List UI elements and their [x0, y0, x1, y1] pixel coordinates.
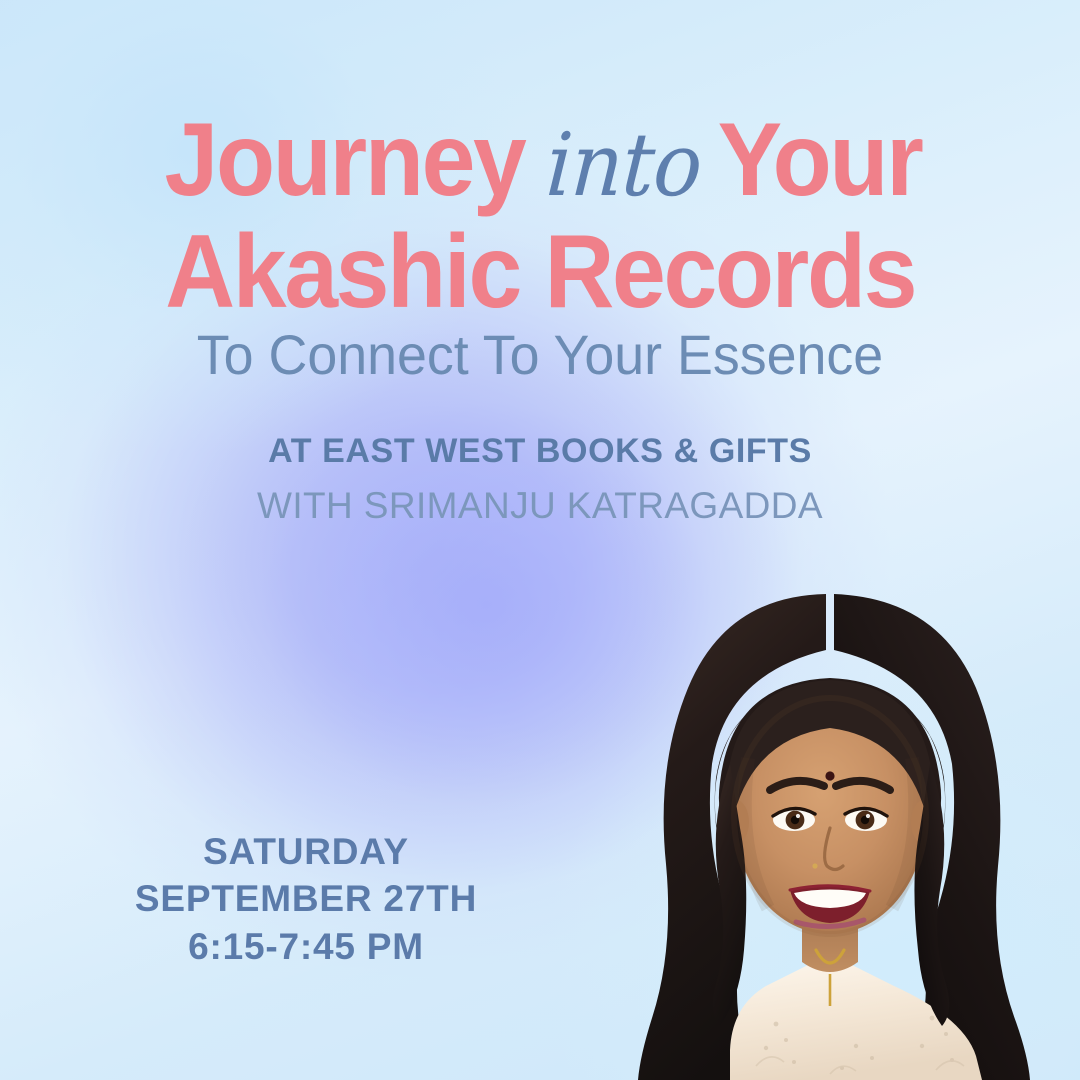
event-day: SATURDAY [96, 828, 516, 875]
venue-block: AT EAST WEST BOOKS & GIFTS WITH SRIMANJU… [0, 432, 1080, 527]
headline-word-your: Your [718, 108, 922, 212]
poster-text-content: JourneyintoYour Akashic Records To Conne… [0, 0, 1080, 1080]
headline-akashic-records: Akashic Records [165, 220, 915, 324]
event-poster: JourneyintoYour Akashic Records To Conne… [0, 0, 1080, 1080]
page-title: JourneyintoYour Akashic Records [0, 108, 1080, 324]
event-date: SEPTEMBER 27TH [96, 875, 516, 922]
event-time: 6:15-7:45 PM [96, 923, 516, 970]
event-date-block: SATURDAY SEPTEMBER 27TH 6:15-7:45 PM [96, 828, 516, 970]
subtitle: To Connect To Your Essence [22, 322, 1059, 387]
headline-line-2: Akashic Records [0, 220, 1080, 324]
venue-location: AT EAST WEST BOOKS & GIFTS [0, 432, 1080, 471]
headline-word-into: into [542, 122, 706, 209]
headline-line-1: JourneyintoYour [0, 108, 1080, 212]
presenter-name: WITH SRIMANJU KATRAGADDA [0, 485, 1080, 527]
headline-word-journey: Journey [164, 108, 524, 212]
